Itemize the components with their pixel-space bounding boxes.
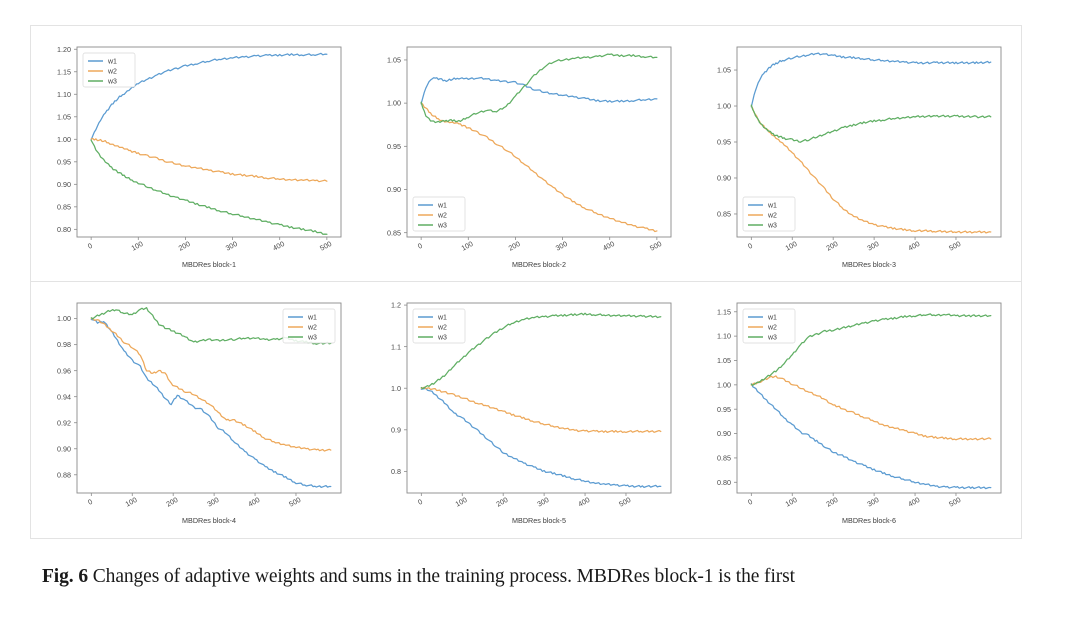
svg-text:500: 500 [287,495,302,509]
svg-text:1.00: 1.00 [57,134,71,143]
chart-cell-block-6: 0.800.850.900.951.001.051.101.1501002003… [691,282,1021,538]
svg-text:0.85: 0.85 [717,454,731,463]
svg-text:w1: w1 [437,314,447,321]
svg-text:MBDRes block-3: MBDRes block-3 [842,260,896,269]
figure-6-panels: 0.800.850.900.951.001.051.101.151.200100… [30,25,1022,540]
svg-text:0.92: 0.92 [57,418,71,427]
chart-cell-block-5: 0.80.91.01.11.20100200300400500MBDRes bl… [361,282,691,538]
figure-row-bottom: 0.880.900.920.940.960.981.00010020030040… [30,282,1022,539]
svg-text:w3: w3 [767,222,777,229]
svg-text:1.10: 1.10 [717,332,731,341]
chart-cell-block-2: 0.850.900.951.001.050100200300400500MBDR… [361,26,691,281]
chart-cell-block-3: 0.850.900.951.001.050100200300400500MBDR… [691,26,1021,281]
svg-text:1.15: 1.15 [57,67,71,76]
svg-text:200: 200 [177,239,192,253]
figure-row-top: 0.800.850.900.951.001.051.101.151.200100… [30,25,1022,282]
svg-text:0.95: 0.95 [717,405,731,414]
svg-text:300: 300 [554,239,569,253]
svg-text:w2: w2 [767,324,777,331]
svg-text:0: 0 [416,240,424,250]
svg-text:1.10: 1.10 [57,89,71,98]
figure-caption-text: Changes of adaptive weights and sums in … [93,566,795,587]
svg-text:1.00: 1.00 [387,98,401,107]
svg-text:300: 300 [866,239,881,253]
svg-text:0.98: 0.98 [57,340,71,349]
svg-text:0.85: 0.85 [57,202,71,211]
svg-text:0.8: 0.8 [391,467,401,476]
svg-text:w2: w2 [437,212,447,219]
svg-text:w1: w1 [107,58,117,65]
svg-text:500: 500 [947,495,962,509]
svg-text:200: 200 [507,239,522,253]
svg-text:MBDRes block-4: MBDRes block-4 [182,516,236,525]
svg-text:0.80: 0.80 [57,224,71,233]
svg-text:1.0: 1.0 [391,384,401,393]
svg-text:500: 500 [648,239,663,253]
svg-text:1.1: 1.1 [391,342,401,351]
svg-text:0.90: 0.90 [717,173,731,182]
svg-text:0.95: 0.95 [57,157,71,166]
svg-text:0.95: 0.95 [717,137,731,146]
svg-text:w3: w3 [437,222,447,229]
svg-text:0: 0 [86,240,94,250]
svg-text:500: 500 [318,239,333,253]
svg-text:0.88: 0.88 [57,470,71,479]
svg-text:0.80: 0.80 [717,478,731,487]
svg-text:300: 300 [224,239,239,253]
svg-text:100: 100 [454,495,469,509]
figure-caption-label: Fig. 6 [42,566,88,587]
svg-text:0.96: 0.96 [57,366,71,375]
svg-text:1.05: 1.05 [387,55,401,64]
svg-text:100: 100 [124,495,139,509]
svg-text:w2: w2 [767,212,777,219]
svg-text:200: 200 [825,495,840,509]
chart-cell-block-4: 0.880.900.920.940.960.981.00010020030040… [31,282,361,538]
svg-text:400: 400 [601,239,616,253]
svg-text:100: 100 [460,239,475,253]
svg-text:400: 400 [246,495,261,509]
figure-caption: Fig. 6 Changes of adaptive weights and s… [42,566,1042,588]
svg-text:1.05: 1.05 [717,65,731,74]
svg-text:0.90: 0.90 [387,185,401,194]
svg-text:0: 0 [86,497,94,507]
svg-text:200: 200 [825,239,840,253]
svg-text:1.00: 1.00 [717,101,731,110]
svg-text:100: 100 [130,239,145,253]
svg-text:500: 500 [617,495,632,509]
svg-text:0: 0 [746,240,754,250]
svg-text:100: 100 [784,495,799,509]
svg-text:400: 400 [271,239,286,253]
svg-text:1.00: 1.00 [57,314,71,323]
svg-text:MBDRes block-1: MBDRes block-1 [182,260,236,269]
svg-text:300: 300 [536,495,551,509]
svg-text:200: 200 [495,495,510,509]
svg-text:0.9: 0.9 [391,425,401,434]
svg-text:w3: w3 [437,334,447,341]
svg-text:1.20: 1.20 [57,44,71,53]
svg-text:0.85: 0.85 [387,228,401,237]
svg-text:300: 300 [206,495,221,509]
svg-text:MBDRes block-5: MBDRes block-5 [512,516,566,525]
figure-page: 0.800.850.900.951.001.051.101.151.200100… [0,0,1080,636]
chart-cell-block-1: 0.800.850.900.951.001.051.101.151.200100… [31,26,361,281]
svg-text:0.90: 0.90 [717,429,731,438]
svg-text:0.94: 0.94 [57,392,71,401]
svg-text:0.95: 0.95 [387,141,401,150]
svg-text:1.05: 1.05 [717,356,731,365]
svg-text:MBDRes block-2: MBDRes block-2 [512,260,566,269]
svg-text:0: 0 [416,497,424,507]
svg-text:300: 300 [866,495,881,509]
svg-text:100: 100 [784,239,799,253]
svg-text:0: 0 [746,497,754,507]
svg-text:1.15: 1.15 [717,307,731,316]
svg-text:200: 200 [165,495,180,509]
svg-text:1.05: 1.05 [57,112,71,121]
svg-text:500: 500 [947,239,962,253]
svg-text:0.90: 0.90 [57,179,71,188]
svg-text:w1: w1 [767,202,777,209]
svg-text:w3: w3 [107,78,117,85]
svg-text:w3: w3 [307,334,317,341]
svg-text:400: 400 [906,495,921,509]
svg-text:400: 400 [576,495,591,509]
svg-text:w2: w2 [107,68,117,75]
svg-text:w2: w2 [307,324,317,331]
svg-text:w1: w1 [437,202,447,209]
svg-text:1.2: 1.2 [391,301,401,310]
svg-text:1.00: 1.00 [717,380,731,389]
svg-text:w1: w1 [767,314,777,321]
svg-text:w2: w2 [437,324,447,331]
svg-text:400: 400 [906,239,921,253]
svg-text:0.90: 0.90 [57,444,71,453]
svg-text:0.85: 0.85 [717,209,731,218]
svg-text:w1: w1 [307,314,317,321]
svg-text:MBDRes block-6: MBDRes block-6 [842,516,896,525]
svg-text:w3: w3 [767,334,777,341]
